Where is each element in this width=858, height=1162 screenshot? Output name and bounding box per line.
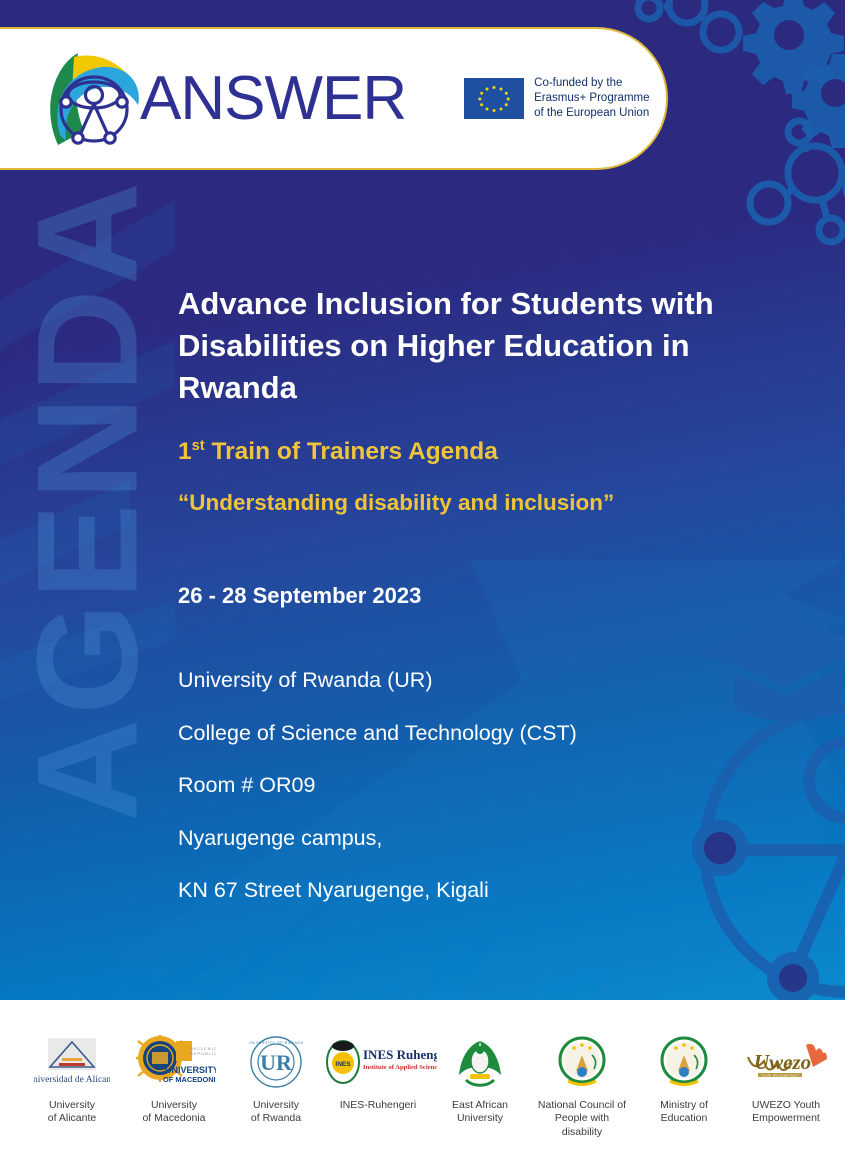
partner-logo xyxy=(451,1034,509,1090)
partner-university-of-macedonia: HELLENIC REPUBLIC UNIVERSITY OF MACEDONI… xyxy=(126,1034,222,1126)
svg-text:INES: INES xyxy=(335,1061,351,1068)
poster-content: Advance Inclusion for Students with Disa… xyxy=(178,283,778,933)
event-subtitle: 1st Train of Trainers Agenda xyxy=(178,436,778,468)
east-african-university-crest-icon xyxy=(451,1035,509,1089)
partner-national-council-people-with-disability: National Council of People with disabili… xyxy=(534,1034,630,1139)
partner-logos-footer: Universidad de Alicante University of Al… xyxy=(0,1000,858,1162)
partner-label: National Council of People with disabili… xyxy=(534,1099,630,1139)
molecule-node-icon xyxy=(788,146,842,200)
partner-label: Ministry of Education xyxy=(660,1099,708,1126)
answer-wordmark: ANSWER xyxy=(140,68,406,130)
svg-text:UNIVERSITY: UNIVERSITY xyxy=(165,1065,216,1075)
svg-text:REPUBLIC: REPUBLIC xyxy=(190,1051,216,1056)
molecule-node-icon xyxy=(788,121,810,143)
venue-line: Nyarugenge campus, xyxy=(178,828,778,850)
molecule-node-icon xyxy=(638,0,660,19)
poster-background: AGENDA xyxy=(0,0,845,1000)
event-theme: “Understanding disability and inclusion” xyxy=(178,488,778,517)
partner-label: UWEZO Youth Empowerment xyxy=(752,1099,820,1126)
partner-logo: Universidad de Alicante xyxy=(34,1034,110,1090)
venue-line: Room # OR09 xyxy=(178,775,778,797)
svg-text:UNIVERSITY OF RWANDA: UNIVERSITY OF RWANDA xyxy=(249,1041,303,1045)
partner-ines-ruhengeri: INES INES Ruhengeri Institute of Applied… xyxy=(330,1034,426,1112)
rwanda-national-emblem-icon xyxy=(656,1035,712,1089)
eu-funding-text: Co-funded by the Erasmus+ Programme of t… xyxy=(534,76,649,122)
university-of-rwanda-logo-icon: UR UNIVERSITY OF RWANDA xyxy=(249,1035,303,1089)
partner-uwezo-youth-empowerment: Uwezo Youth Empowerment UWEZO Youth Empo… xyxy=(738,1034,834,1126)
venue-details: University of Rwanda (UR) College of Sci… xyxy=(178,670,778,902)
svg-text:INES Ruhengeri: INES Ruhengeri xyxy=(363,1047,437,1062)
partner-label: University of Alicante xyxy=(48,1099,96,1126)
venue-line: College of Science and Technology (CST) xyxy=(178,723,778,745)
partner-university-of-alicante: Universidad de Alicante University of Al… xyxy=(24,1034,120,1126)
molecule-node-icon xyxy=(750,184,788,222)
eu-funding-line-1: Co-funded by the xyxy=(534,76,649,91)
partner-east-african-university: East African University xyxy=(432,1034,528,1126)
answer-eye-network-logo-icon xyxy=(44,49,146,149)
partner-logo xyxy=(554,1034,610,1090)
partner-label: INES-Ruhengeri xyxy=(340,1099,416,1112)
uwezo-youth-empowerment-logo-icon: Uwezo Youth Empowerment xyxy=(742,1037,830,1087)
svg-text:Universidad de Alicante: Universidad de Alicante xyxy=(34,1075,110,1085)
university-of-macedonia-logo-icon: HELLENIC REPUBLIC UNIVERSITY OF MACEDONI… xyxy=(132,1035,216,1089)
svg-text:Institute of Applied Sciences: Institute of Applied Sciences xyxy=(363,1064,437,1071)
partner-logo: Uwezo Youth Empowerment xyxy=(742,1034,830,1090)
venue-line: KN 67 Street Nyarugenge, Kigali xyxy=(178,880,778,902)
eu-funding-line-3: of the European Union xyxy=(534,106,649,121)
gear-icon xyxy=(743,0,844,94)
partner-label: East African University xyxy=(452,1099,508,1126)
svg-text:UR: UR xyxy=(260,1050,293,1075)
page-title: Advance Inclusion for Students with Disa… xyxy=(178,283,718,409)
molecule-node-icon xyxy=(669,0,705,23)
molecule-node-icon xyxy=(703,14,739,50)
header-logo-card: ANSWER xyxy=(0,27,668,170)
svg-text:Uwezo: Uwezo xyxy=(754,1050,811,1074)
poster-page: AGENDA xyxy=(0,0,858,1162)
partner-logo: INES INES Ruhengeri Institute of Applied… xyxy=(319,1034,437,1090)
university-of-alicante-logo-icon: Universidad de Alicante xyxy=(34,1036,110,1088)
partner-logo: UR UNIVERSITY OF RWANDA xyxy=(249,1034,303,1090)
european-union-flag-icon xyxy=(464,78,524,119)
ines-ruhengeri-logo-icon: INES INES Ruhengeri Institute of Applied… xyxy=(319,1037,437,1087)
partner-label: University of Macedonia xyxy=(142,1099,205,1126)
svg-text:OF MACEDONIA: OF MACEDONIA xyxy=(163,1075,216,1084)
agenda-watermark-text: AGENDA xyxy=(16,178,159,822)
partner-label: University of Rwanda xyxy=(251,1099,301,1126)
eu-funding-line-2: Erasmus+ Programme xyxy=(534,91,649,106)
partner-logo: HELLENIC REPUBLIC UNIVERSITY OF MACEDONI… xyxy=(132,1034,216,1090)
svg-text:Youth Empowerment: Youth Empowerment xyxy=(761,1074,799,1078)
venue-line: University of Rwanda (UR) xyxy=(178,670,778,692)
eu-funding-statement: Co-funded by the Erasmus+ Programme of t… xyxy=(464,76,649,122)
event-dates: 26 - 28 September 2023 xyxy=(178,582,778,611)
partner-logo xyxy=(656,1034,712,1090)
subtitle-ordinal: st xyxy=(192,438,205,454)
partner-university-of-rwanda: UR UNIVERSITY OF RWANDA University of Rw… xyxy=(228,1034,324,1126)
molecule-node-icon xyxy=(819,218,843,242)
answer-project-logo: ANSWER xyxy=(44,49,406,149)
partner-ministry-of-education: Ministry of Education xyxy=(636,1034,732,1126)
subtitle-rest: Train of Trainers Agenda xyxy=(205,438,498,465)
rwanda-national-emblem-icon xyxy=(554,1035,610,1089)
subtitle-number: 1 xyxy=(178,438,192,465)
gear-icon xyxy=(792,54,845,148)
